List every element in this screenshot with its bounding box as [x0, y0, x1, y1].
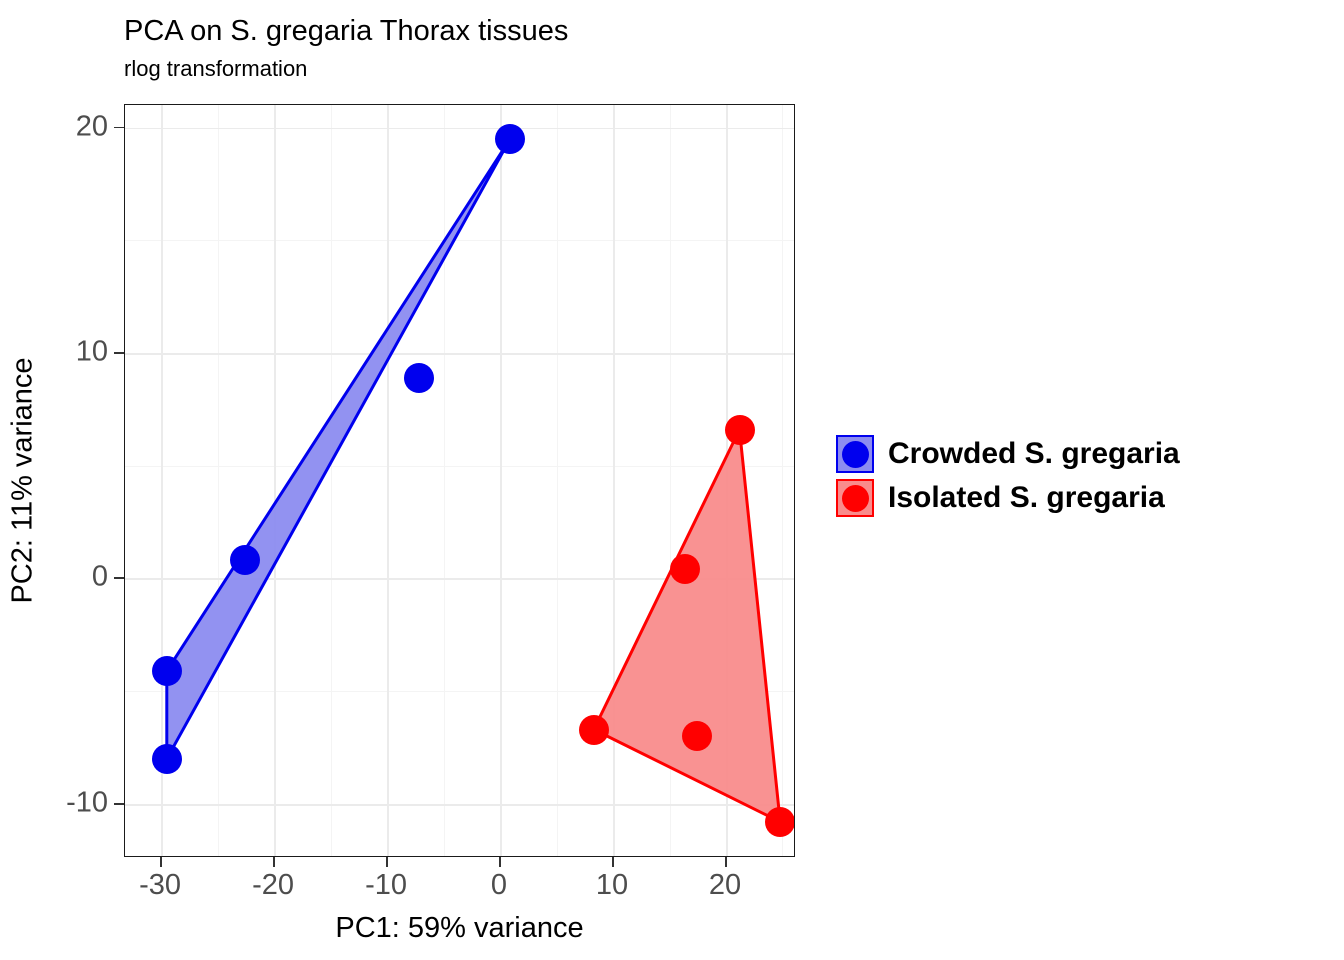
legend-item-crowded[interactable]: Crowded S. gregaria	[836, 432, 1180, 476]
data-point[interactable]	[152, 656, 182, 686]
y-tick-mark	[114, 352, 124, 354]
data-point[interactable]	[230, 545, 260, 575]
y-tick-label: 10	[76, 336, 108, 369]
y-tick-mark	[114, 803, 124, 805]
y-tick-label: 0	[92, 561, 108, 594]
y-tick-label: 20	[76, 110, 108, 143]
data-point[interactable]	[404, 363, 434, 393]
legend-item-isolated[interactable]: Isolated S. gregaria	[836, 476, 1180, 520]
x-tick-mark	[499, 857, 501, 867]
x-tick-label: 0	[491, 869, 507, 902]
legend: Crowded S. gregaria Isolated S. gregaria	[836, 432, 1180, 520]
x-tick-mark	[725, 857, 727, 867]
x-axis-title: PC1: 59% variance	[124, 912, 795, 945]
x-tick-label: -20	[252, 869, 294, 902]
x-tick-label: -10	[365, 869, 407, 902]
convex-hull-polygon	[167, 139, 510, 759]
x-tick-mark	[612, 857, 614, 867]
data-point[interactable]	[682, 721, 712, 751]
legend-key-crowded-icon	[836, 435, 874, 473]
plot-panel	[124, 104, 795, 857]
x-tick-mark	[160, 857, 162, 867]
legend-label-isolated: Isolated S. gregaria	[888, 481, 1165, 515]
data-point[interactable]	[152, 744, 182, 774]
data-point[interactable]	[765, 807, 795, 837]
x-tick-label: -30	[139, 869, 181, 902]
y-tick-mark	[114, 127, 124, 129]
x-tick-mark	[273, 857, 275, 867]
x-tick-label: 10	[596, 869, 628, 902]
legend-label-crowded: Crowded S. gregaria	[888, 437, 1180, 471]
y-tick-label: -10	[66, 786, 108, 819]
data-point[interactable]	[579, 715, 609, 745]
x-tick-label: 20	[709, 869, 741, 902]
y-axis-title: PC2: 11% variance	[0, 104, 46, 857]
y-tick-mark	[114, 577, 124, 579]
legend-key-isolated-icon	[836, 479, 874, 517]
convex-hull-polygon	[594, 430, 780, 822]
y-axis-title-text: PC2: 11% variance	[7, 357, 40, 603]
data-point[interactable]	[725, 415, 755, 445]
x-tick-mark	[386, 857, 388, 867]
data-point[interactable]	[495, 124, 525, 154]
chart-subtitle: rlog transformation	[124, 56, 307, 82]
chart-root: PCA on S. gregaria Thorax tissues rlog t…	[0, 0, 1344, 960]
chart-title: PCA on S. gregaria Thorax tissues	[124, 14, 568, 48]
